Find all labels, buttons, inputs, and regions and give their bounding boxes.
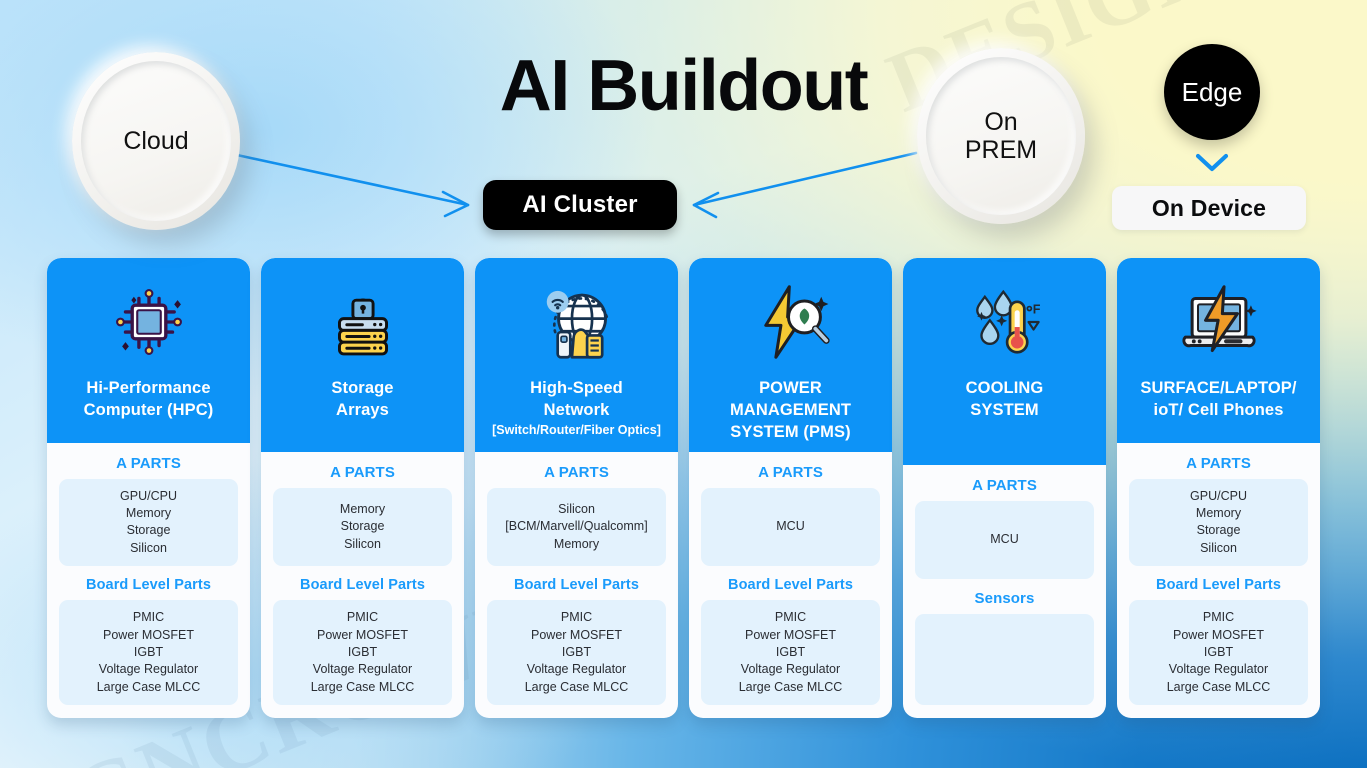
category-card-body: A PARTSSilicon[BCM/Marvell/Qualcomm]Memo… (475, 452, 678, 718)
section-gap (915, 579, 1094, 590)
category-card-body: A PARTSGPU/CPUMemoryStorageSiliconBoard … (1117, 443, 1320, 718)
list-item: PMIC (491, 609, 662, 626)
list-item: Memory (63, 505, 234, 522)
list-item: Voltage Regulator (705, 661, 876, 678)
ai-cluster-label: AI Cluster (522, 191, 637, 219)
microchip-icon (106, 280, 192, 364)
cloud-circle-shape: Cloud (72, 52, 240, 230)
list-item: Voltage Regulator (1133, 661, 1304, 678)
list-item: Power MOSFET (491, 627, 662, 644)
category-card-title: COOLING SYSTEM (960, 378, 1050, 422)
chevron-down-icon (1190, 150, 1234, 174)
edge-node[interactable]: Edge (1164, 44, 1260, 140)
section-heading: Board Level Parts (1129, 577, 1308, 593)
list-item: GPU/CPU (1133, 488, 1304, 505)
category-card-header: Storage Arrays (261, 258, 464, 452)
list-item: Silicon (277, 536, 448, 553)
list-item: Silicon (491, 501, 662, 518)
list-item: PMIC (1133, 609, 1304, 626)
category-card-header: High-Speed Network[Switch/Router/Fiber O… (475, 258, 678, 452)
section-items-box: PMICPower MOSFETIGBTVoltage RegulatorLar… (701, 600, 880, 705)
section-heading: Board Level Parts (273, 577, 452, 593)
section-heading: Sensors (915, 590, 1094, 607)
section-items-box: Silicon[BCM/Marvell/Qualcomm]Memory (487, 488, 666, 566)
list-item: Voltage Regulator (63, 661, 234, 678)
section-heading: A PARTS (1129, 455, 1308, 472)
list-item: Large Case MLCC (491, 679, 662, 696)
section-heading: A PARTS (487, 464, 666, 481)
list-item: Power MOSFET (705, 627, 876, 644)
section-heading: A PARTS (915, 477, 1094, 494)
onprem-circle-shape: On PREM (917, 48, 1085, 224)
list-item: Storage (63, 522, 234, 539)
list-item: IGBT (705, 644, 876, 661)
list-item: Memory (277, 501, 448, 518)
list-item: Voltage Regulator (277, 661, 448, 678)
section-heading: A PARTS (701, 464, 880, 481)
list-item: Large Case MLCC (705, 679, 876, 696)
section-items-box: GPU/CPUMemoryStorageSilicon (1129, 479, 1308, 567)
category-card[interactable]: Storage ArraysA PARTSMemoryStorageSilico… (261, 258, 464, 718)
category-card-subtitle: [Switch/Router/Fiber Optics] (489, 423, 664, 438)
section-gap (59, 566, 238, 577)
section-items-box: MCU (701, 488, 880, 566)
section-gap (701, 566, 880, 577)
list-item: IGBT (1133, 644, 1304, 661)
laptop-bolt-icon (1176, 280, 1262, 364)
section-items-box: PMICPower MOSFETIGBTVoltage RegulatorLar… (273, 600, 452, 705)
section-gap (273, 566, 452, 577)
section-items-box: MemoryStorageSilicon (273, 488, 452, 566)
on-device-pill[interactable]: On Device (1112, 186, 1306, 230)
list-item: Large Case MLCC (277, 679, 448, 696)
list-item: PMIC (277, 609, 448, 626)
list-item: IGBT (277, 644, 448, 661)
global-network-icon (534, 280, 620, 364)
category-card[interactable]: Hi-Performance Computer (HPC)A PARTSGPU/… (47, 258, 250, 718)
list-item: Power MOSFET (277, 627, 448, 644)
section-items-box: GPU/CPUMemoryStorageSilicon (59, 479, 238, 567)
arrow-line-onprem-to-cluster (694, 153, 916, 205)
section-heading: Board Level Parts (59, 577, 238, 593)
list-item: Memory (491, 536, 662, 553)
arrow-head-right-icon (443, 192, 468, 216)
category-card-body: A PARTSMemoryStorageSiliconBoard Level P… (261, 452, 464, 718)
list-item: Power MOSFET (1133, 627, 1304, 644)
list-item: [BCM/Marvell/Qualcomm] (491, 518, 662, 535)
section-items-box: PMICPower MOSFETIGBTVoltage RegulatorLar… (59, 600, 238, 705)
category-card-body: A PARTSMCUBoard Level PartsPMICPower MOS… (689, 452, 892, 718)
section-gap (1129, 566, 1308, 577)
category-card-body: A PARTSGPU/CPUMemoryStorageSiliconBoard … (47, 443, 250, 718)
category-card-title: SURFACE/LAPTOP/ ioT/ Cell Phones (1134, 378, 1302, 422)
section-heading: Board Level Parts (487, 577, 666, 593)
list-item: Storage (277, 518, 448, 535)
list-item: Storage (1133, 522, 1304, 539)
arrow-line-cloud-to-cluster (237, 155, 468, 205)
section-heading: A PARTS (273, 464, 452, 481)
category-card[interactable]: High-Speed Network[Switch/Router/Fiber O… (475, 258, 678, 718)
list-item: Large Case MLCC (63, 679, 234, 696)
ai-cluster-pill[interactable]: AI Cluster (483, 180, 677, 230)
list-item: GPU/CPU (63, 488, 234, 505)
category-card-row: Hi-Performance Computer (HPC)A PARTSGPU/… (0, 258, 1367, 720)
list-item: Silicon (63, 540, 234, 557)
onprem-node-label: On PREM (965, 108, 1037, 164)
category-card-title: POWER MANAGEMENT SYSTEM (PMS) (724, 378, 857, 443)
list-item: MCU (705, 518, 876, 535)
edge-node-label: Edge (1182, 77, 1243, 108)
secure-server-icon (320, 280, 406, 364)
category-card-title: High-Speed Network (524, 378, 629, 422)
section-items-box: MCU (915, 501, 1094, 579)
category-card-title: Hi-Performance Computer (HPC) (78, 378, 220, 422)
list-item: Large Case MLCC (1133, 679, 1304, 696)
section-items-box: PMICPower MOSFETIGBTVoltage RegulatorLar… (1129, 600, 1308, 705)
onprem-node[interactable]: On PREM (917, 48, 1085, 224)
cloud-node-label: Cloud (123, 127, 188, 155)
section-items-box: PMICPower MOSFETIGBTVoltage RegulatorLar… (487, 600, 666, 705)
list-item: IGBT (63, 644, 234, 661)
arrow-head-left-icon (694, 193, 718, 217)
section-items-box (915, 614, 1094, 705)
list-item: PMIC (705, 609, 876, 626)
section-heading: A PARTS (59, 455, 238, 472)
list-item: Memory (1133, 505, 1304, 522)
category-card-header: SURFACE/LAPTOP/ ioT/ Cell Phones (1117, 258, 1320, 443)
thermometer-droplets-icon (962, 280, 1048, 364)
category-card-header: Hi-Performance Computer (HPC) (47, 258, 250, 443)
list-item: MCU (919, 531, 1090, 548)
category-card-header: POWER MANAGEMENT SYSTEM (PMS) (689, 258, 892, 452)
list-item: Power MOSFET (63, 627, 234, 644)
category-card[interactable]: SURFACE/LAPTOP/ ioT/ Cell PhonesA PARTSG… (1117, 258, 1320, 718)
list-item: IGBT (491, 644, 662, 661)
category-card[interactable]: COOLING SYSTEMA PARTSMCUSensors (903, 258, 1106, 718)
header-section: AI Buildout Cloud On PREM Edge On Device… (0, 0, 1367, 258)
category-card-title: Storage Arrays (325, 378, 399, 422)
cloud-node[interactable]: Cloud (72, 52, 240, 230)
power-bolt-magnifier-icon (748, 280, 834, 364)
on-device-label: On Device (1152, 195, 1266, 222)
section-heading: Board Level Parts (701, 577, 880, 593)
section-gap (487, 566, 666, 577)
list-item: PMIC (63, 609, 234, 626)
list-item: Silicon (1133, 540, 1304, 557)
category-card-body: A PARTSMCUSensors (903, 465, 1106, 718)
category-card[interactable]: POWER MANAGEMENT SYSTEM (PMS)A PARTSMCUB… (689, 258, 892, 718)
list-item: Voltage Regulator (491, 661, 662, 678)
category-card-header: COOLING SYSTEM (903, 258, 1106, 465)
